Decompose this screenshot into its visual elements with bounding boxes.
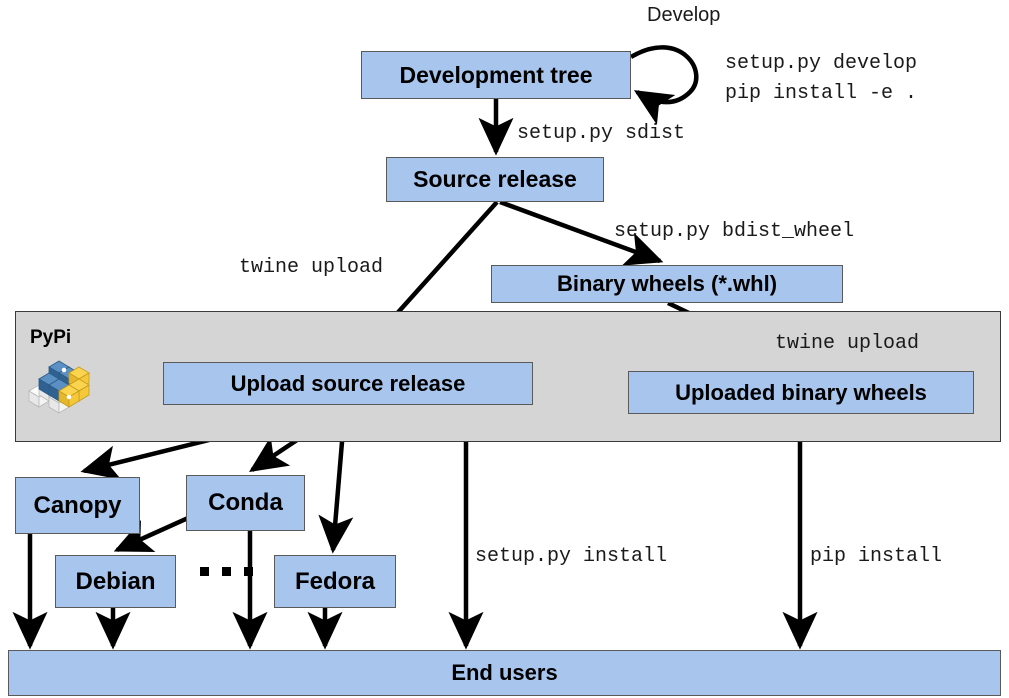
label-twine-upload-wheels: twine upload <box>775 332 919 355</box>
node-binary-wheels[interactable]: Binary wheels (*.whl) <box>491 265 843 303</box>
label-pip-install: pip install <box>810 545 942 568</box>
ellipsis-dot <box>222 567 231 576</box>
node-uploaded-binary-wheels[interactable]: Uploaded binary wheels <box>628 371 974 414</box>
diagram-canvas: PyPi <box>0 0 1009 698</box>
python-cubes-logo <box>27 357 91 415</box>
node-source-release[interactable]: Source release <box>386 157 604 202</box>
ellipsis-dot <box>244 567 253 576</box>
node-debian[interactable]: Debian <box>55 555 176 608</box>
node-conda[interactable]: Conda <box>186 475 305 531</box>
node-development-tree[interactable]: Development tree <box>361 51 631 99</box>
edge-develop-selfloop <box>631 47 696 102</box>
node-upload-source-release[interactable]: Upload source release <box>163 362 533 405</box>
node-fedora[interactable]: Fedora <box>274 555 396 608</box>
pypi-region-label: PyPi <box>30 327 71 349</box>
label-setup-py-install: setup.py install <box>475 545 667 568</box>
node-end-users[interactable]: End users <box>8 650 1001 696</box>
ellipsis-dot <box>200 567 209 576</box>
label-pip-install-editable: pip install -e . <box>725 82 917 105</box>
label-twine-upload-source: twine upload <box>239 256 383 279</box>
label-setup-py-bdist-wheel: setup.py bdist_wheel <box>614 220 854 243</box>
more-distros-ellipsis <box>200 567 253 576</box>
label-setup-py-develop: setup.py develop <box>725 52 917 75</box>
label-setup-py-sdist: setup.py sdist <box>517 122 685 145</box>
node-canopy[interactable]: Canopy <box>15 477 140 534</box>
label-develop: Develop <box>647 4 720 27</box>
